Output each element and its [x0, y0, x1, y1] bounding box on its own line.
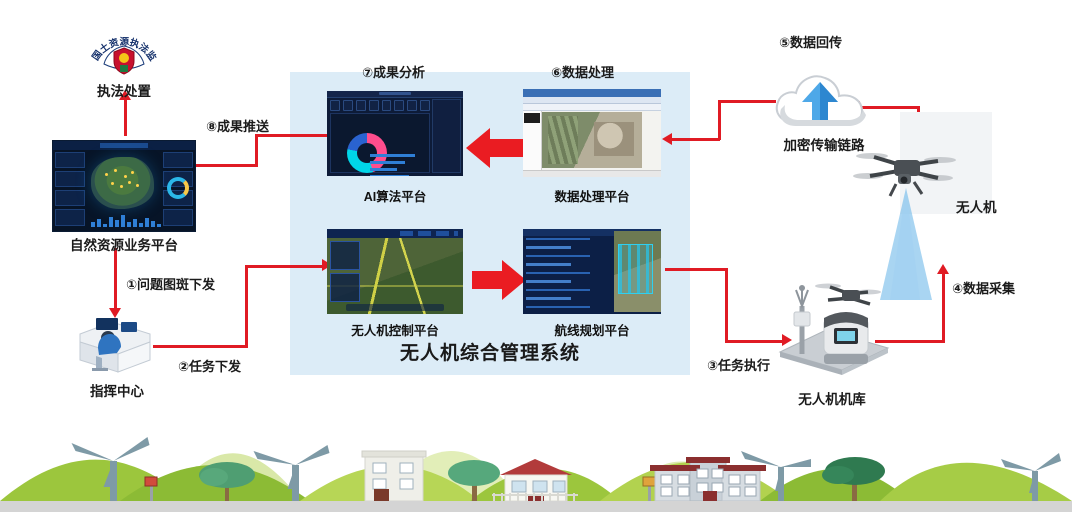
connector-6-v [718, 100, 721, 140]
step-7-label: ⑦成果分析 [362, 62, 425, 81]
connector-8-vert [255, 134, 258, 166]
enforcement-label: 执法处置 [86, 80, 162, 100]
connector-enforcement-line [124, 98, 127, 136]
uav-control-platform-label: 无人机控制平台 [327, 320, 463, 339]
step-4-label: ④数据采集 [952, 278, 1015, 297]
uav-control-platform-screenshot[interactable] [327, 229, 463, 314]
business-platform-label: 自然资源业务平台 [44, 234, 204, 254]
step-3-label: ③任务执行 [707, 355, 770, 374]
route-platform-label: 航线规划平台 [523, 320, 661, 339]
police-emblem-icon: 国土资源执法监察 [88, 18, 160, 80]
uav-hangar-label: 无人机机库 [766, 388, 898, 408]
step-2-label: ②任务下发 [178, 356, 241, 375]
data-platform-label: 数据处理平台 [523, 186, 661, 205]
step-8-label: ⑧成果推送 [206, 116, 269, 135]
landscape-illustration [0, 417, 1072, 512]
ai-platform-screenshot[interactable] [327, 91, 463, 176]
step-1-label: ①问题图斑下发 [126, 274, 215, 293]
uav-label: 无人机 [956, 196, 997, 216]
connector-2-v [245, 265, 248, 347]
step-6-label: ⑥数据处理 [551, 62, 614, 81]
system-panel-title: 无人机综合管理系统 [290, 338, 690, 365]
block-arrow-left-icon [466, 126, 524, 170]
connector-3-h1 [665, 268, 727, 271]
block-arrow-right-icon [472, 258, 526, 302]
connector-6-arrowhead [662, 133, 672, 145]
connector-1-line [114, 248, 117, 310]
step-5-label: ⑤数据回传 [779, 32, 842, 51]
connector-3-v [725, 268, 728, 342]
drone-hangar-icon [762, 268, 902, 378]
ai-platform-label: AI算法平台 [327, 186, 463, 205]
route-platform-screenshot[interactable] [523, 229, 661, 314]
diagram-canvas: 无人机综合管理系统 ⑧成果推送 ①问题图斑下发 ②任务下发 ③任务执行 ④数据采… [0, 0, 1072, 512]
connector-6-h2 [672, 138, 720, 141]
cloud-upload-icon [768, 60, 876, 142]
business-platform-screenshot[interactable] [52, 140, 196, 232]
command-center-label: 指挥中心 [62, 380, 172, 400]
connector-2-h1 [153, 345, 248, 348]
command-center-operator-icon [72, 308, 158, 374]
data-platform-screenshot[interactable] [523, 89, 661, 177]
connector-2-h2 [245, 265, 323, 268]
